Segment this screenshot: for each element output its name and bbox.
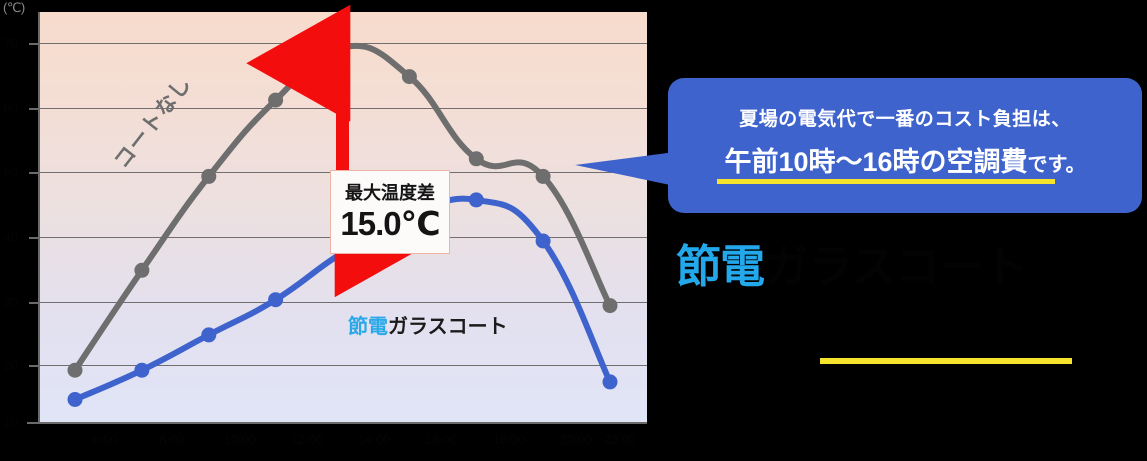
max-temp-difference-box: 最大温度差 15.0℃ [330, 170, 450, 254]
glass-coat-point [68, 392, 83, 407]
callout-line-1: 夏場の電気代で一番のコスト負担は、 [668, 104, 1142, 131]
temperature-chart: (℃) 70 60 50 40 30 20 10 6:00 8:00 [0, 0, 670, 461]
no-coat-point [134, 263, 149, 278]
page-root: (℃) 70 60 50 40 30 20 10 6:00 8:00 [0, 0, 1147, 461]
headline-highlight: 節電 [676, 241, 764, 292]
headline-text: 節電ガラスコート [676, 244, 1146, 289]
no-coat-point [201, 169, 216, 184]
headline-underline [820, 358, 1072, 364]
glass-coat-point [536, 234, 551, 249]
no-coat-point [402, 69, 417, 84]
headline-rest: ガラスコート [764, 241, 1027, 292]
callout-tail-text: です。 [1028, 154, 1086, 176]
no-coat-point [603, 298, 618, 313]
no-coat-point [536, 169, 551, 184]
glass-coat-point [201, 327, 216, 342]
max-temp-difference-title: 最大温度差 [345, 184, 435, 202]
headline-block: 節電ガラスコート [676, 244, 1146, 289]
callout-emphasis: 午前10時〜16時の空調費 [724, 147, 1027, 177]
series-label-rest: ガラスコート [388, 316, 508, 338]
callout-tail-icon [575, 152, 675, 186]
series-label-highlight: 節電 [348, 316, 388, 338]
no-coat-point [268, 93, 283, 108]
callout-line-2: 午前10時〜16時の空調費です。 [668, 140, 1142, 179]
glass-coat-point [268, 292, 283, 307]
no-coat-point [68, 363, 83, 378]
max-temp-difference-value: 15.0℃ [340, 207, 439, 240]
glass-coat-point [469, 192, 484, 207]
no-coat-point [469, 151, 484, 166]
callout-underline [717, 179, 1055, 184]
callout-balloon: 夏場の電気代で一番のコスト負担は、 午前10時〜16時の空調費です。 [668, 78, 1142, 213]
glass-coat-point [603, 374, 618, 389]
no-coat-point [335, 40, 350, 55]
series-label-glass-coat: 節電ガラスコート [348, 310, 508, 339]
glass-coat-point [134, 363, 149, 378]
